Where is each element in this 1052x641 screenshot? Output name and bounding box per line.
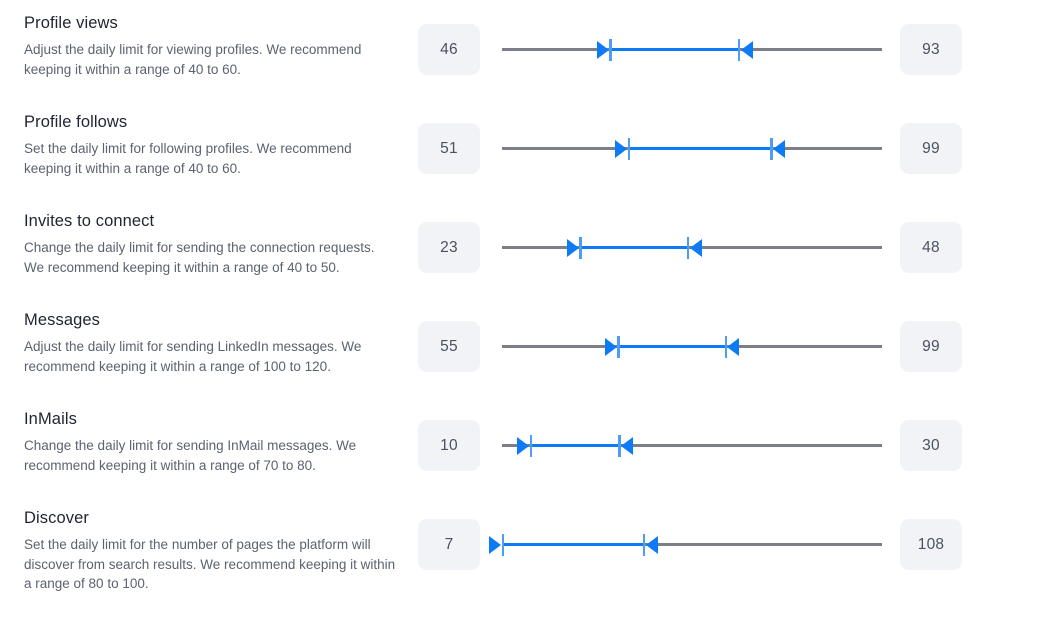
handle-bar [609, 39, 611, 61]
slider-active-range [628, 147, 772, 150]
slider-handle-min[interactable] [605, 333, 621, 361]
handle-bar [617, 336, 619, 358]
row-info: Discover Set the daily limit for the num… [24, 507, 404, 594]
row-title: InMails [24, 408, 404, 430]
range-slider[interactable] [502, 519, 882, 570]
max-value-box[interactable]: 99 [900, 123, 962, 174]
range-slider[interactable] [502, 123, 882, 174]
triangle-right-icon [517, 437, 529, 455]
slider-handle-max[interactable] [737, 36, 753, 64]
triangle-right-icon [605, 338, 617, 356]
triangle-left-icon [727, 338, 739, 356]
min-value-box[interactable]: 51 [418, 123, 480, 174]
max-value-box[interactable]: 108 [900, 519, 962, 570]
slider-active-range [618, 345, 726, 348]
min-value-box[interactable]: 23 [418, 222, 480, 273]
triangle-left-icon [646, 536, 658, 554]
slider-handle-max[interactable] [769, 135, 785, 163]
range-slider[interactable] [502, 222, 882, 273]
row-title: Invites to connect [24, 210, 404, 232]
slider-area: 55 99 [418, 321, 964, 373]
max-value-box[interactable]: 99 [900, 321, 962, 372]
slider-handle-min[interactable] [597, 36, 613, 64]
max-value-box[interactable]: 30 [900, 420, 962, 471]
daily-limits-panel: Profile views Adjust the daily limit for… [0, 0, 1052, 641]
row-title: Profile follows [24, 111, 404, 133]
slider-area: 10 30 [418, 420, 964, 472]
slider-area: 23 48 [418, 222, 964, 274]
row-description: Adjust the daily limit for viewing profi… [24, 40, 396, 79]
triangle-right-icon [615, 140, 627, 158]
handle-bar [579, 237, 581, 259]
row-title: Profile views [24, 12, 404, 34]
row-title: Discover [24, 507, 404, 529]
slider-active-range [580, 246, 689, 249]
slider-handle-max[interactable] [686, 234, 702, 262]
slider-handle-max[interactable] [617, 432, 633, 460]
range-slider[interactable] [502, 321, 882, 372]
slider-handle-min[interactable] [517, 432, 533, 460]
limit-row-messages: Messages Adjust the daily limit for send… [0, 297, 1052, 396]
handle-bar [530, 435, 532, 457]
slider-area: 51 99 [418, 123, 964, 175]
triangle-right-icon [597, 41, 609, 59]
limit-row-inmails: InMails Change the daily limit for sendi… [0, 396, 1052, 495]
limit-row-discover: Discover Set the daily limit for the num… [0, 495, 1052, 594]
slider-handle-max[interactable] [642, 531, 658, 559]
slider-handle-max[interactable] [723, 333, 739, 361]
slider-active-range [610, 48, 740, 51]
triangle-left-icon [621, 437, 633, 455]
max-value-box[interactable]: 93 [900, 24, 962, 75]
handle-bar [628, 138, 630, 160]
row-title: Messages [24, 309, 404, 331]
slider-area: 46 93 [418, 24, 964, 76]
row-description: Change the daily limit for sending InMai… [24, 436, 396, 475]
range-slider[interactable] [502, 420, 882, 471]
row-info: Messages Adjust the daily limit for send… [24, 309, 404, 376]
min-value-box[interactable]: 7 [418, 519, 480, 570]
min-value-box[interactable]: 10 [418, 420, 480, 471]
slider-handle-min[interactable] [489, 531, 505, 559]
min-value-box[interactable]: 55 [418, 321, 480, 372]
range-slider[interactable] [502, 24, 882, 75]
triangle-right-icon [489, 536, 501, 554]
slider-handle-min[interactable] [615, 135, 631, 163]
row-description: Set the daily limit for the number of pa… [24, 535, 396, 594]
row-description: Set the daily limit for following profil… [24, 139, 396, 178]
limit-row-invites-to-connect: Invites to connect Change the daily limi… [0, 198, 1052, 297]
slider-active-range [530, 444, 620, 447]
row-description: Change the daily limit for sending the c… [24, 238, 396, 277]
triangle-right-icon [567, 239, 579, 257]
row-info: InMails Change the daily limit for sendi… [24, 408, 404, 475]
row-description: Adjust the daily limit for sending Linke… [24, 337, 396, 376]
limit-row-profile-views: Profile views Adjust the daily limit for… [0, 0, 1052, 99]
slider-active-range [502, 543, 645, 546]
max-value-box[interactable]: 48 [900, 222, 962, 273]
min-value-box[interactable]: 46 [418, 24, 480, 75]
row-info: Invites to connect Change the daily limi… [24, 210, 404, 277]
triangle-left-icon [741, 41, 753, 59]
slider-handle-min[interactable] [567, 234, 583, 262]
row-info: Profile views Adjust the daily limit for… [24, 12, 404, 79]
triangle-left-icon [773, 140, 785, 158]
row-info: Profile follows Set the daily limit for … [24, 111, 404, 178]
handle-bar [502, 534, 504, 556]
triangle-left-icon [690, 239, 702, 257]
limit-row-profile-follows: Profile follows Set the daily limit for … [0, 99, 1052, 198]
slider-area: 7 108 [418, 519, 964, 571]
